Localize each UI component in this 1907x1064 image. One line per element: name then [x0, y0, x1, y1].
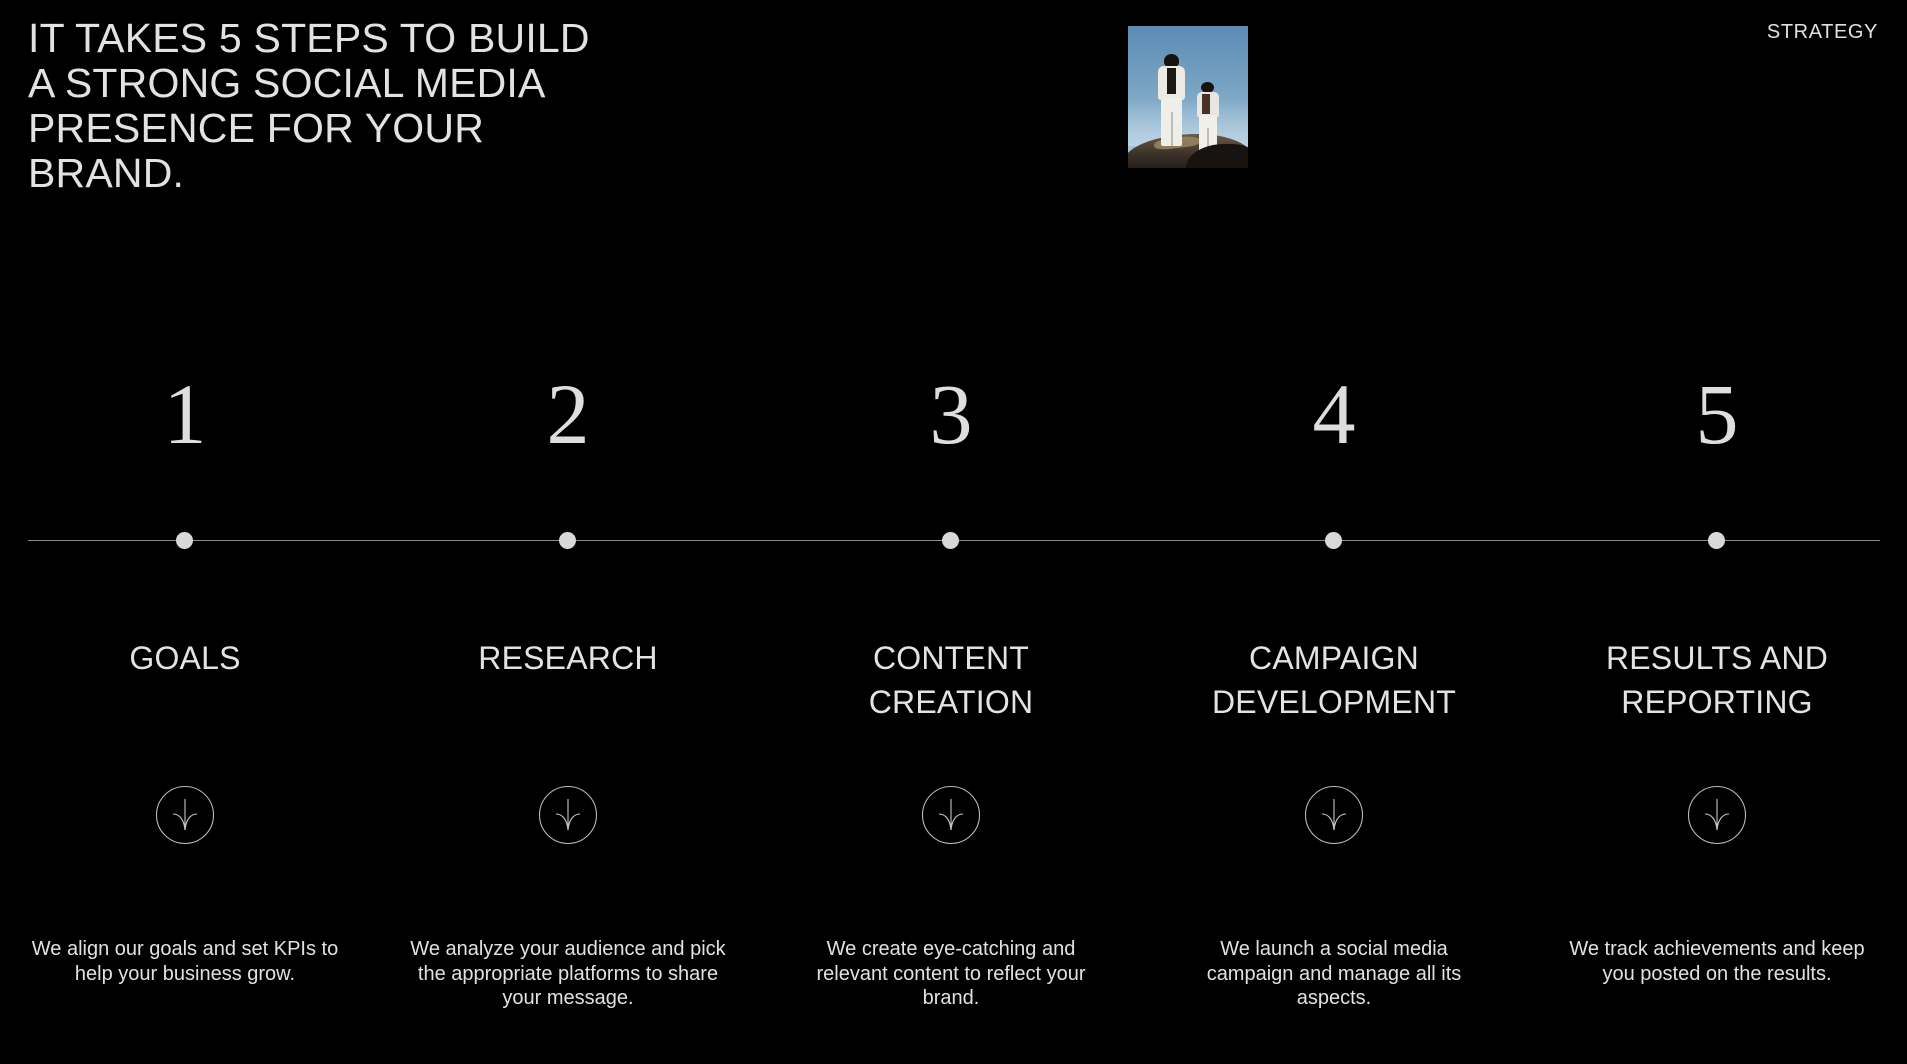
step-description: We launch a social media campaign and ma… [1164, 937, 1504, 1011]
arrow-down-circle-icon[interactable] [155, 785, 215, 845]
timeline-dot[interactable] [942, 532, 959, 549]
timeline-dot[interactable] [176, 532, 193, 549]
timeline-dot[interactable] [559, 532, 576, 549]
timeline-dot[interactable] [1708, 532, 1725, 549]
step-number: 1 [15, 371, 355, 457]
step-column-1[interactable]: 1GOALSWe align our goals and set KPIs to… [15, 0, 355, 1064]
step-title: RESULTS AND REPORTING [1547, 636, 1887, 724]
step-description: We analyze your audience and pick the ap… [398, 937, 738, 1011]
step-title: CONTENT CREATION [781, 636, 1121, 724]
step-description: We align our goals and set KPIs to help … [15, 937, 355, 986]
arrow-down-circle-icon[interactable] [1687, 785, 1747, 845]
timeline-dot[interactable] [1325, 532, 1342, 549]
step-number: 5 [1547, 371, 1887, 457]
step-column-4[interactable]: 4CAMPAIGN DEVELOPMENTWe launch a social … [1164, 0, 1504, 1064]
step-number: 2 [398, 371, 738, 457]
step-number: 4 [1164, 371, 1504, 457]
arrow-down-circle-icon[interactable] [538, 785, 598, 845]
step-description: We track achievements and keep you poste… [1547, 937, 1887, 986]
step-description: We create eye-catching and relevant cont… [781, 937, 1121, 1011]
arrow-down-circle-icon[interactable] [921, 785, 981, 845]
arrow-down-circle-icon[interactable] [1304, 785, 1364, 845]
step-title: RESEARCH [398, 636, 738, 680]
step-column-3[interactable]: 3CONTENT CREATIONWe create eye-catching … [781, 0, 1121, 1064]
step-column-2[interactable]: 2RESEARCHWe analyze your audience and pi… [398, 0, 738, 1064]
step-column-5[interactable]: 5RESULTS AND REPORTINGWe track achieveme… [1547, 0, 1887, 1064]
step-title: GOALS [15, 636, 355, 680]
step-number: 3 [781, 371, 1121, 457]
step-title: CAMPAIGN DEVELOPMENT [1164, 636, 1504, 724]
